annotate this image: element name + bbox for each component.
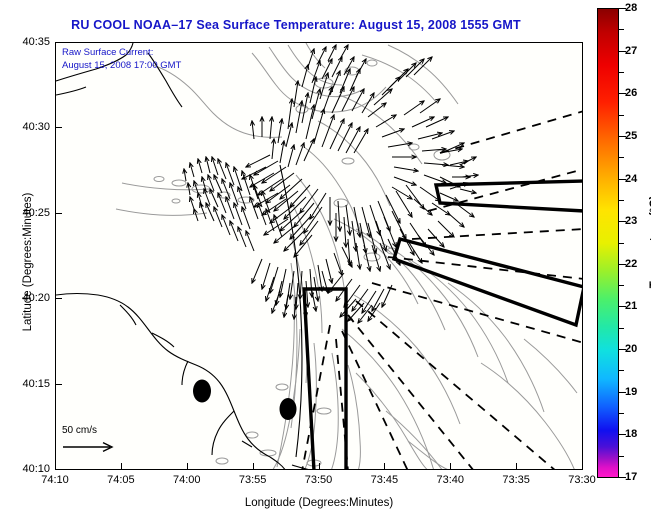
- colorbar-tick-label: 28: [625, 2, 637, 14]
- x-tick-label: 74:10: [41, 474, 69, 486]
- colorbar-minor-tick: [619, 157, 624, 158]
- station-markers: [193, 380, 297, 421]
- y-tick-label: 40:10: [2, 463, 50, 475]
- x-tick-label: 74:00: [173, 474, 201, 486]
- colorbar-tick-label: 24: [625, 173, 637, 185]
- x-tick-label: 73:45: [371, 474, 399, 486]
- colorbar-tick-label: 25: [625, 130, 637, 142]
- sst-map-figure: RU COOL NOAA–17 Sea Surface Temperature:…: [0, 0, 651, 518]
- y-tick-label: 40:35: [2, 36, 50, 48]
- y-tick-mark: [56, 298, 62, 299]
- x-tick-mark: [582, 463, 583, 469]
- colorbar-tick-label: 22: [625, 258, 637, 270]
- velocity-scale-bar: 50 cm/s: [62, 425, 172, 453]
- colorbar-minor-tick: [619, 29, 624, 30]
- x-axis-label: Longitude (Degrees:Minutes): [55, 497, 583, 509]
- y-axis-label: Latitude (Degrees:Minutes): [22, 142, 34, 382]
- y-tick-mark: [56, 42, 62, 43]
- x-tick-mark: [516, 463, 517, 469]
- scale-bar-arrow-icon: [62, 441, 120, 453]
- current-annotation: Raw Surface Current: August 15, 2008 17:…: [62, 46, 181, 72]
- colorbar-tick-label: 18: [625, 428, 637, 440]
- colorbar-minor-tick: [619, 285, 624, 286]
- colorbar: [597, 8, 619, 478]
- map-plot-area: Raw Surface Current: August 15, 2008 17:…: [55, 42, 583, 470]
- x-tick-mark: [121, 463, 122, 469]
- x-tick-label: 73:35: [502, 474, 530, 486]
- colorbar-minor-tick: [619, 243, 624, 244]
- x-tick-mark: [253, 463, 254, 469]
- map-graphics: [56, 43, 583, 470]
- colorbar-tick-label: 23: [625, 215, 637, 227]
- y-tick-mark: [56, 384, 62, 385]
- x-tick-mark: [450, 463, 451, 469]
- x-tick-label: 73:40: [436, 474, 464, 486]
- colorbar-minor-tick: [619, 72, 624, 73]
- coastline: [56, 43, 314, 470]
- y-tick-label: 40:30: [2, 121, 50, 133]
- colorbar-minor-tick: [619, 370, 624, 371]
- colorbar-tick-label: 19: [625, 386, 637, 398]
- annotation-line-1: Raw Surface Current:: [62, 46, 181, 59]
- colorbar-minor-tick: [619, 456, 624, 457]
- x-tick-label: 73:50: [305, 474, 333, 486]
- colorbar-tick-label: 27: [625, 45, 637, 57]
- colorbar-minor-tick: [619, 413, 624, 414]
- colorbar-minor-tick: [619, 200, 624, 201]
- colorbar-tick-label: 21: [625, 300, 637, 312]
- colorbar-tick-label: 26: [625, 87, 637, 99]
- x-tick-mark: [187, 463, 188, 469]
- y-tick-mark: [56, 127, 62, 128]
- y-tick-mark: [56, 469, 62, 470]
- colorbar-gradient: [598, 9, 618, 477]
- x-tick-label: 74:05: [107, 474, 135, 486]
- scale-bar-label: 50 cm/s: [62, 425, 172, 436]
- x-tick-mark: [384, 463, 385, 469]
- colorbar-minor-tick: [619, 328, 624, 329]
- annotation-line-2: August 15, 2008 17:00 GMT: [62, 59, 181, 72]
- x-tick-mark: [319, 463, 320, 469]
- colorbar-tick-label: 17: [625, 471, 637, 483]
- figure-title: RU COOL NOAA–17 Sea Surface Temperature:…: [0, 18, 592, 32]
- y-tick-mark: [56, 213, 62, 214]
- x-tick-label: 73:30: [568, 474, 596, 486]
- x-tick-label: 73:55: [239, 474, 267, 486]
- colorbar-minor-tick: [619, 115, 624, 116]
- colorbar-tick-label: 20: [625, 343, 637, 355]
